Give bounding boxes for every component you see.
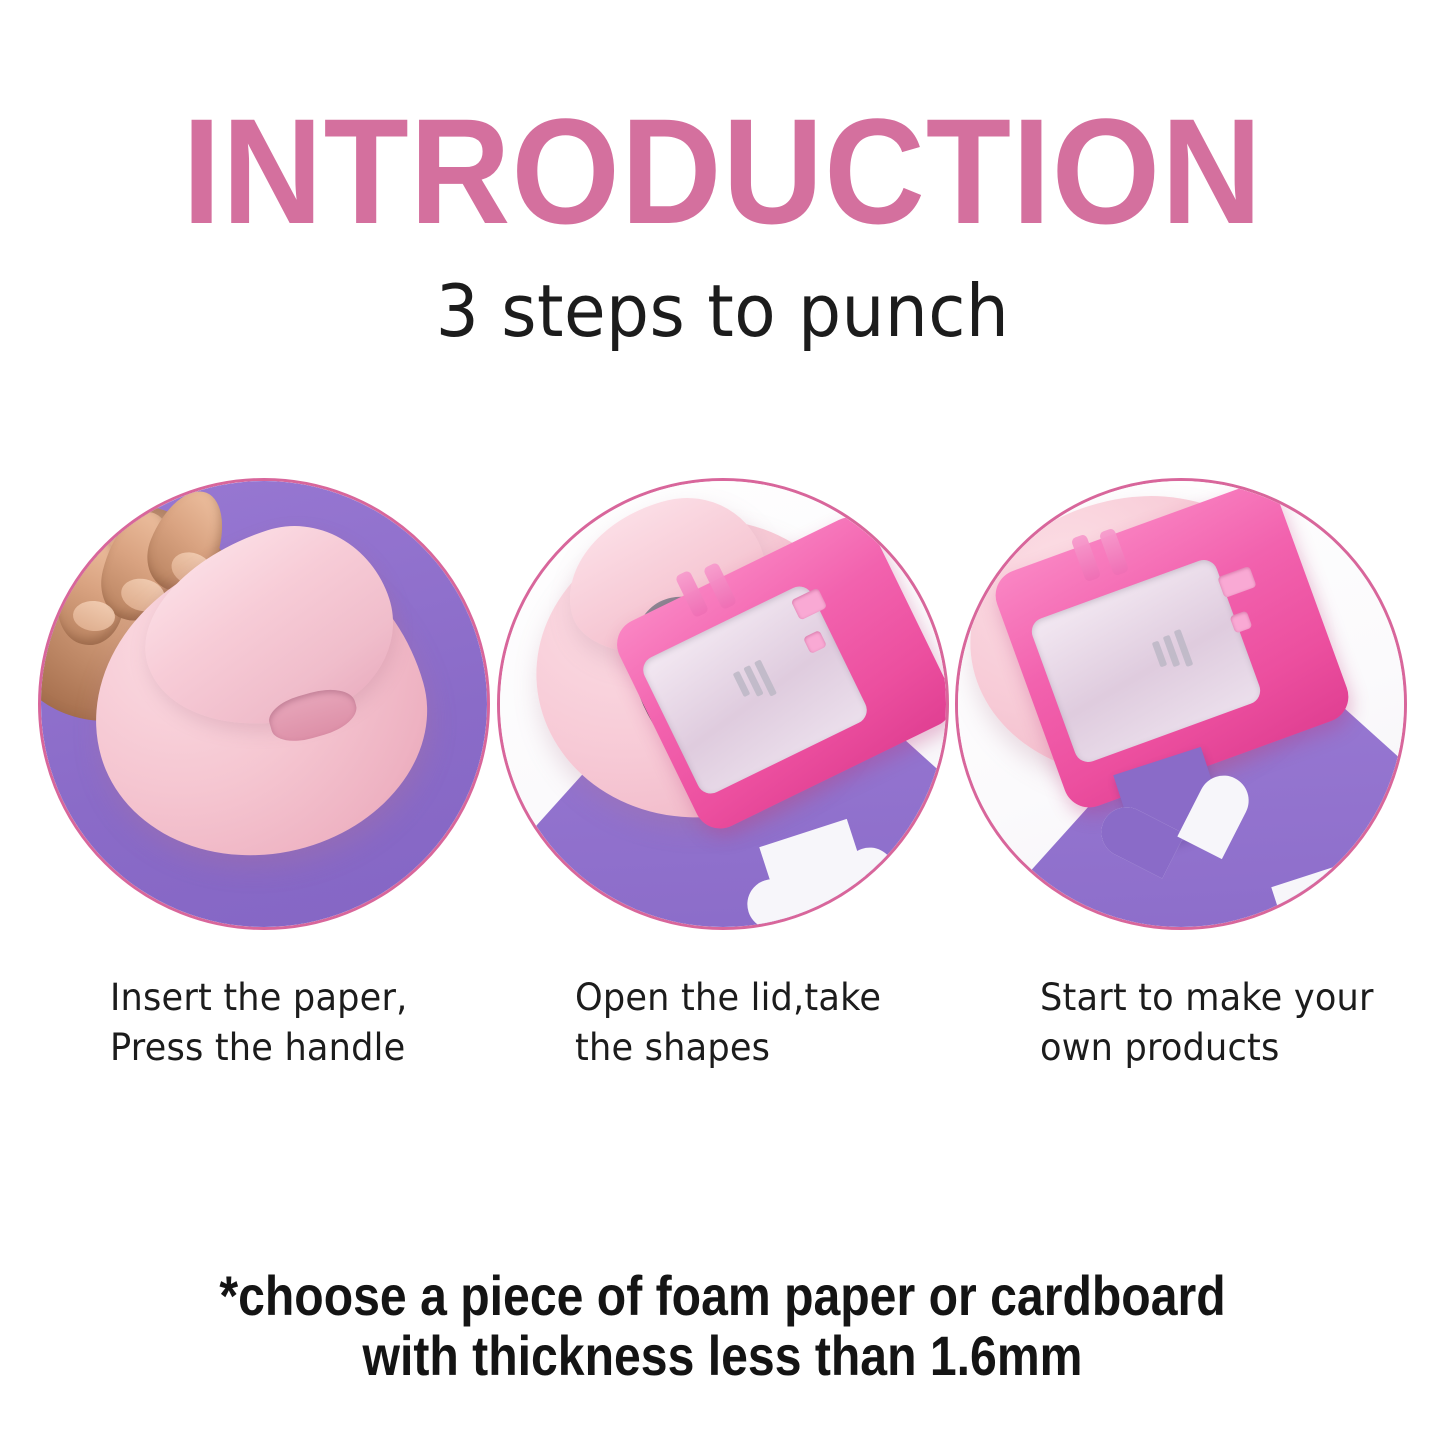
step-caption-line-1: Insert the paper,: [110, 976, 407, 1019]
step-photo-1: [38, 478, 490, 930]
step-caption-2: Open the lid,take the shapes: [575, 973, 955, 1073]
step-item-2: Open the lid,take the shapes: [497, 478, 949, 1098]
step-caption-1: Insert the paper, Press the handle: [110, 973, 490, 1073]
steps-row: Insert the paper, Press the handle: [0, 478, 1445, 1098]
footnote: *choose a piece of foam paper or cardboa…: [101, 1266, 1344, 1386]
step-item-1: Insert the paper, Press the handle: [38, 478, 490, 1098]
step-photo-2: [497, 478, 949, 930]
page-title: INTRODUCTION: [51, 96, 1395, 246]
step-caption-line-1: Open the lid,take: [575, 976, 881, 1019]
step-caption-line-2: the shapes: [575, 1026, 770, 1069]
step-item-3: Start to make your own products: [955, 478, 1407, 1098]
step-caption-line-1: Start to make your: [1040, 976, 1374, 1019]
step-caption-line-2: Press the handle: [110, 1026, 405, 1069]
page-subtitle: 3 steps to punch: [43, 272, 1401, 350]
scene-finished-shapes: [955, 478, 1407, 930]
step-photo-3: [955, 478, 1407, 930]
step-caption-3: Start to make your own products: [1040, 973, 1420, 1073]
scene-open-lid: [497, 478, 949, 930]
footnote-line-1: *choose a piece of foam paper or cardboa…: [101, 1266, 1344, 1326]
footnote-line-2: with thickness less than 1.6mm: [101, 1326, 1344, 1386]
step-caption-line-2: own products: [1040, 1026, 1280, 1069]
scene-insert-paper: [38, 478, 490, 930]
